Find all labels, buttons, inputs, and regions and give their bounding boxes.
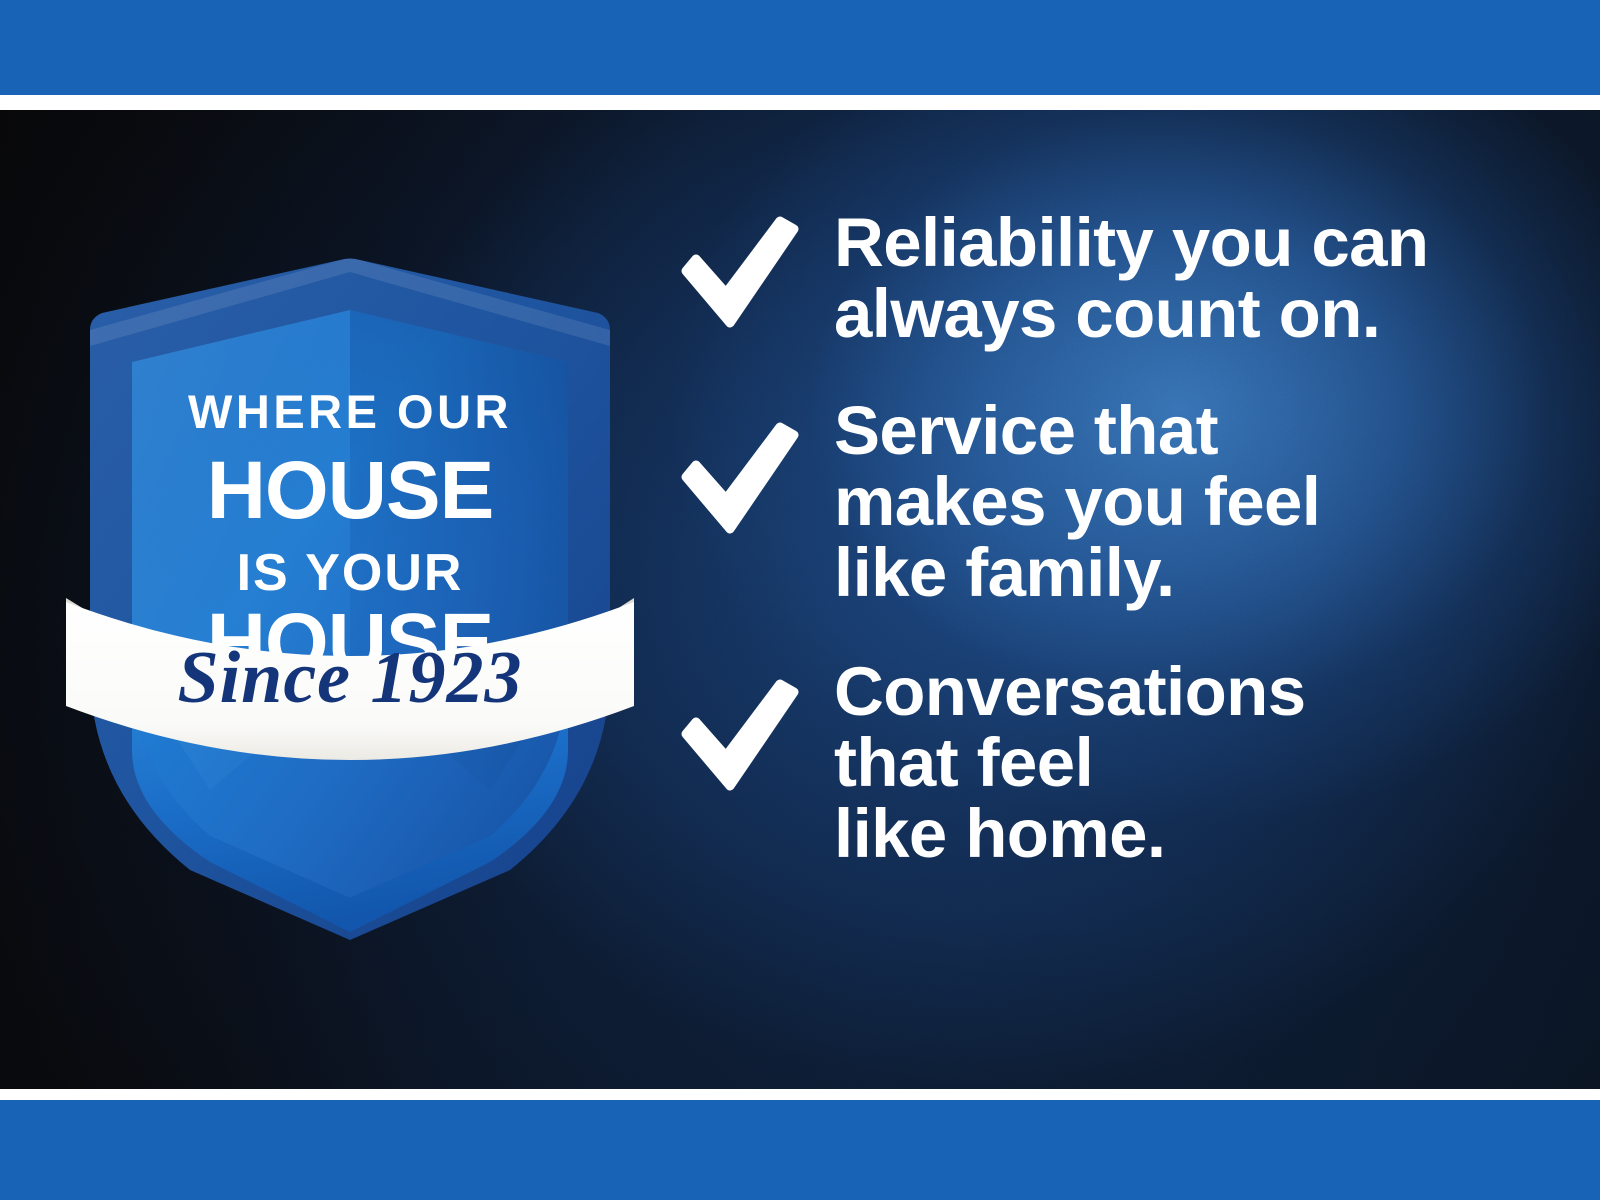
checkmark-icon — [672, 215, 800, 333]
benefit-text-2: Service that makes you feel like family. — [834, 395, 1320, 608]
benefit-item-1: Reliability you can always count on. — [672, 205, 1532, 349]
shield-line-2: HOUSE — [207, 445, 494, 536]
shield-line-3: IS YOUR — [237, 544, 464, 602]
benefit-text-3: Conversations that feel like home. — [834, 654, 1306, 869]
benefit-item-3: Conversations that feel like home. — [672, 654, 1532, 869]
benefit-item-2: Service that makes you feel like family. — [672, 395, 1532, 608]
shield-line-1: WHERE OUR — [188, 385, 512, 438]
benefit-text-1: Reliability you can always count on. — [834, 205, 1428, 349]
checkmark-icon — [672, 421, 800, 539]
ribbon-since-text: Since 1923 — [177, 637, 522, 719]
promo-poster: WHERE OUR HOUSE IS YOUR HOUSE Since 1923… — [0, 0, 1600, 1200]
bottom-brand-bar — [0, 1100, 1600, 1200]
checkmark-icon — [672, 678, 800, 796]
benefits-list: Reliability you can always count on. Ser… — [672, 205, 1532, 870]
top-brand-bar — [0, 0, 1600, 95]
shield-badge: WHERE OUR HOUSE IS YOUR HOUSE Since 1923 — [60, 150, 640, 960]
